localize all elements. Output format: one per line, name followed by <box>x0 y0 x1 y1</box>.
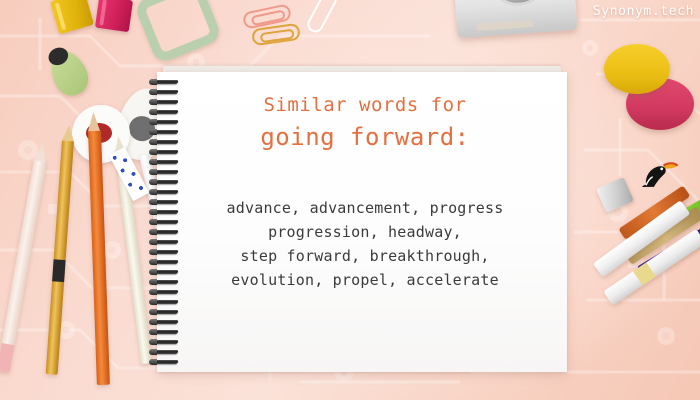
camera-grip <box>477 20 533 31</box>
page-heading: Similar words for going forward: <box>180 92 550 154</box>
synonym-line: evolution, propel, accelerate <box>180 268 550 292</box>
synonym-line: step forward, breakthrough, <box>180 244 550 268</box>
macaron-yellow <box>604 44 670 94</box>
spiral-binding <box>148 78 184 368</box>
heading-line-2: going forward: <box>180 120 550 154</box>
heading-line-1: Similar words for <box>180 92 550 118</box>
synonym-line: progression, headway, <box>180 220 550 244</box>
site-logo[interactable]: Synonym.tech <box>593 4 694 19</box>
toucan-sticker <box>632 153 680 190</box>
synonym-list: advance, advancement, progress progressi… <box>180 196 550 292</box>
screenshot-root: Similar words for going forward: advance… <box>0 0 700 400</box>
camera-lens <box>486 0 550 8</box>
synonym-line: advance, advancement, progress <box>180 196 550 220</box>
binder-clip-pink <box>95 0 133 32</box>
